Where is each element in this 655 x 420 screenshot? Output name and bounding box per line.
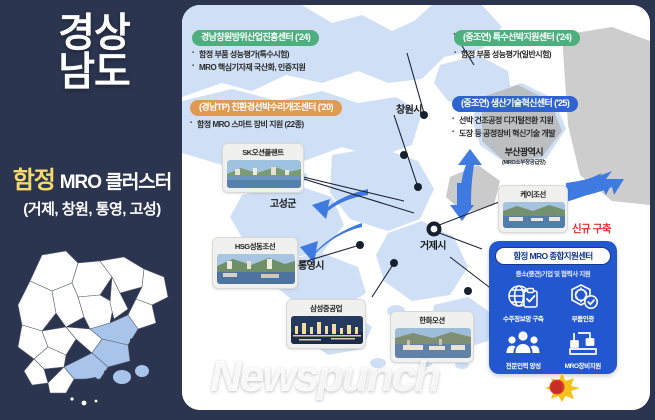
company-chip-samsung-heavy[interactable]: 삼성중공업 [286, 299, 366, 349]
new-construction-badge: 신규 구축 [572, 221, 611, 236]
company-chip-k-shipbuilding[interactable]: 케이조선 [498, 185, 568, 233]
info-box-special-ship-support-center[interactable]: (중조연) 특수선박지원센터 ('24) 함정 부품 성능평가(일반시험) [454, 27, 580, 62]
people-group-icon [506, 329, 540, 359]
bullet-item: MRO 핵심기자재 국산화, 인증지원 [199, 62, 319, 74]
minimap-gyeongnam [4, 243, 180, 415]
k-shipbuilding-photo [503, 202, 565, 228]
infographic-root: 경상 남도 함정 MRO 클러스터 (거제, 창원, 통영, 고성) [0, 0, 655, 420]
info-box-bullets: 함정 부품 성능평가(특수시험) MRO 핵심기자재 국산화, 인증지원 [192, 49, 319, 74]
bullet-item: 선박 건조공정 디지털전환 지원 [459, 115, 578, 127]
page-title: 경상 남도 [14, 14, 174, 92]
mro-panel-subtitle: 중소(중견)기업 및 협력사 지원 [494, 268, 612, 278]
place-label-geoje: 거제시 [420, 237, 446, 252]
place-label-busan-text: 부산광역시 [505, 147, 543, 157]
place-label-tongyeong: 통영시 [298, 257, 324, 272]
company-chip-sk-oceanplant[interactable]: SK오션플랜트 [222, 143, 304, 193]
company-label: 삼성중공업 [291, 303, 361, 314]
hanwha-ocean-photo [395, 328, 471, 358]
mro-item-equipment-support[interactable]: MRO장비지원 [554, 329, 613, 375]
info-box-bullets: 함정 MRO 스마트 장비 지원 (22종) [190, 119, 342, 131]
place-label-goseong: 고성군 [270, 195, 296, 210]
subtitle-regions: (거제, 창원, 통영, 고성) [4, 198, 180, 219]
info-box-title: (중조연) 특수선박지원센터 ('24) [454, 30, 580, 46]
mro-item-part-certification[interactable]: 부품인증 [554, 282, 613, 328]
company-label: 케이조선 [503, 189, 563, 200]
mro-item-order-network[interactable]: 수주정보망 구축 [494, 282, 553, 328]
place-label-busan-sub: (MRO소부장공급망) [502, 158, 546, 166]
mro-item-label: 수주정보망 구축 [503, 313, 543, 323]
bullet-item: 도장 등 공정장비 혁신기술 개발 [459, 128, 578, 140]
info-box-title: (중조연) 생산기술혁신센터 ('25) [452, 96, 578, 112]
hsg-sungdong-photo [217, 254, 295, 284]
bullet-item: 함정 부품 성능평가(일반시험) [461, 49, 580, 61]
mro-item-label: 부품인증 [572, 313, 594, 323]
info-box-changwon-defense-center[interactable]: 경남창원방위산업진흥센터 ('24) 함정 부품 성능평가(특수시험) MRO … [192, 27, 319, 74]
machine-icon [566, 329, 600, 359]
title-line-1: 경상 [58, 11, 130, 55]
subtitle-rest: MRO 클러스터 [60, 172, 172, 193]
place-label-changwon: 창원시 [396, 101, 422, 116]
gear-check-icon [566, 282, 600, 312]
mro-support-center-panel[interactable]: 함정 MRO 종합지원센터 중소(중견)기업 및 협력사 지원 [489, 241, 617, 374]
info-box-production-tech-innovation-center[interactable]: (중조연) 생산기술혁신센터 ('25) 선박 건조공정 디지털전환 지원 도장… [452, 93, 578, 140]
subtitle-block: 함정 MRO 클러스터 (거제, 창원, 통영, 고성) [4, 160, 180, 219]
company-label: HSG성동조선 [217, 241, 293, 252]
subtitle-line: 함정 MRO 클러스터 [4, 160, 180, 195]
map-card: 경남창원방위산업진흥센터 ('24) 함정 부품 성능평가(특수시험) MRO … [182, 5, 650, 410]
mro-item-label: 전문인력 양성 [506, 360, 541, 370]
info-box-title: (경남TP) 친환경선박수리개조센터 ('20) [190, 100, 342, 116]
company-chip-hsg-sungdong[interactable]: HSG성동조선 [212, 237, 298, 289]
company-label: 한화오션 [395, 315, 469, 326]
mro-item-label: MRO장비지원 [565, 360, 601, 370]
info-box-eco-ship-repair-center[interactable]: (경남TP) 친환경선박수리개조센터 ('20) 함정 MRO 스마트 장비 지… [190, 97, 342, 132]
sk-oceanplant-photo [227, 160, 301, 188]
bullet-item: 함정 MRO 스마트 장비 지원 (22종) [197, 119, 342, 131]
company-chip-hanwha-ocean[interactable]: 한화오션 [390, 311, 474, 363]
info-box-bullets: 선박 건조공정 디지털전환 지원 도장 등 공정장비 혁신기술 개발 [452, 115, 578, 140]
bullet-item: 함정 부품 성능평가(특수시험) [199, 49, 319, 61]
subtitle-highlight: 함정 [13, 167, 55, 194]
place-label-busan: 부산광역시 (MRO소부장공급망) [502, 145, 546, 166]
company-label: SK오션플랜트 [227, 147, 299, 158]
samsung-heavy-photo [291, 316, 363, 344]
left-panel: 경상 남도 함정 MRO 클러스터 (거제, 창원, 통영, 고성) [0, 0, 180, 420]
info-box-title: 경남창원방위산업진흥센터 ('24) [192, 30, 319, 46]
title-line-2: 남도 [14, 53, 174, 92]
mro-item-workforce-training[interactable]: 전문인력 양성 [494, 329, 553, 375]
globe-clipboard-icon [506, 282, 540, 312]
mro-items-grid: 수주정보망 구축 부품인증 [494, 282, 612, 374]
mro-panel-header: 함정 MRO 종합지원센터 [495, 247, 611, 265]
info-box-bullets: 함정 부품 성능평가(일반시험) [454, 49, 580, 61]
